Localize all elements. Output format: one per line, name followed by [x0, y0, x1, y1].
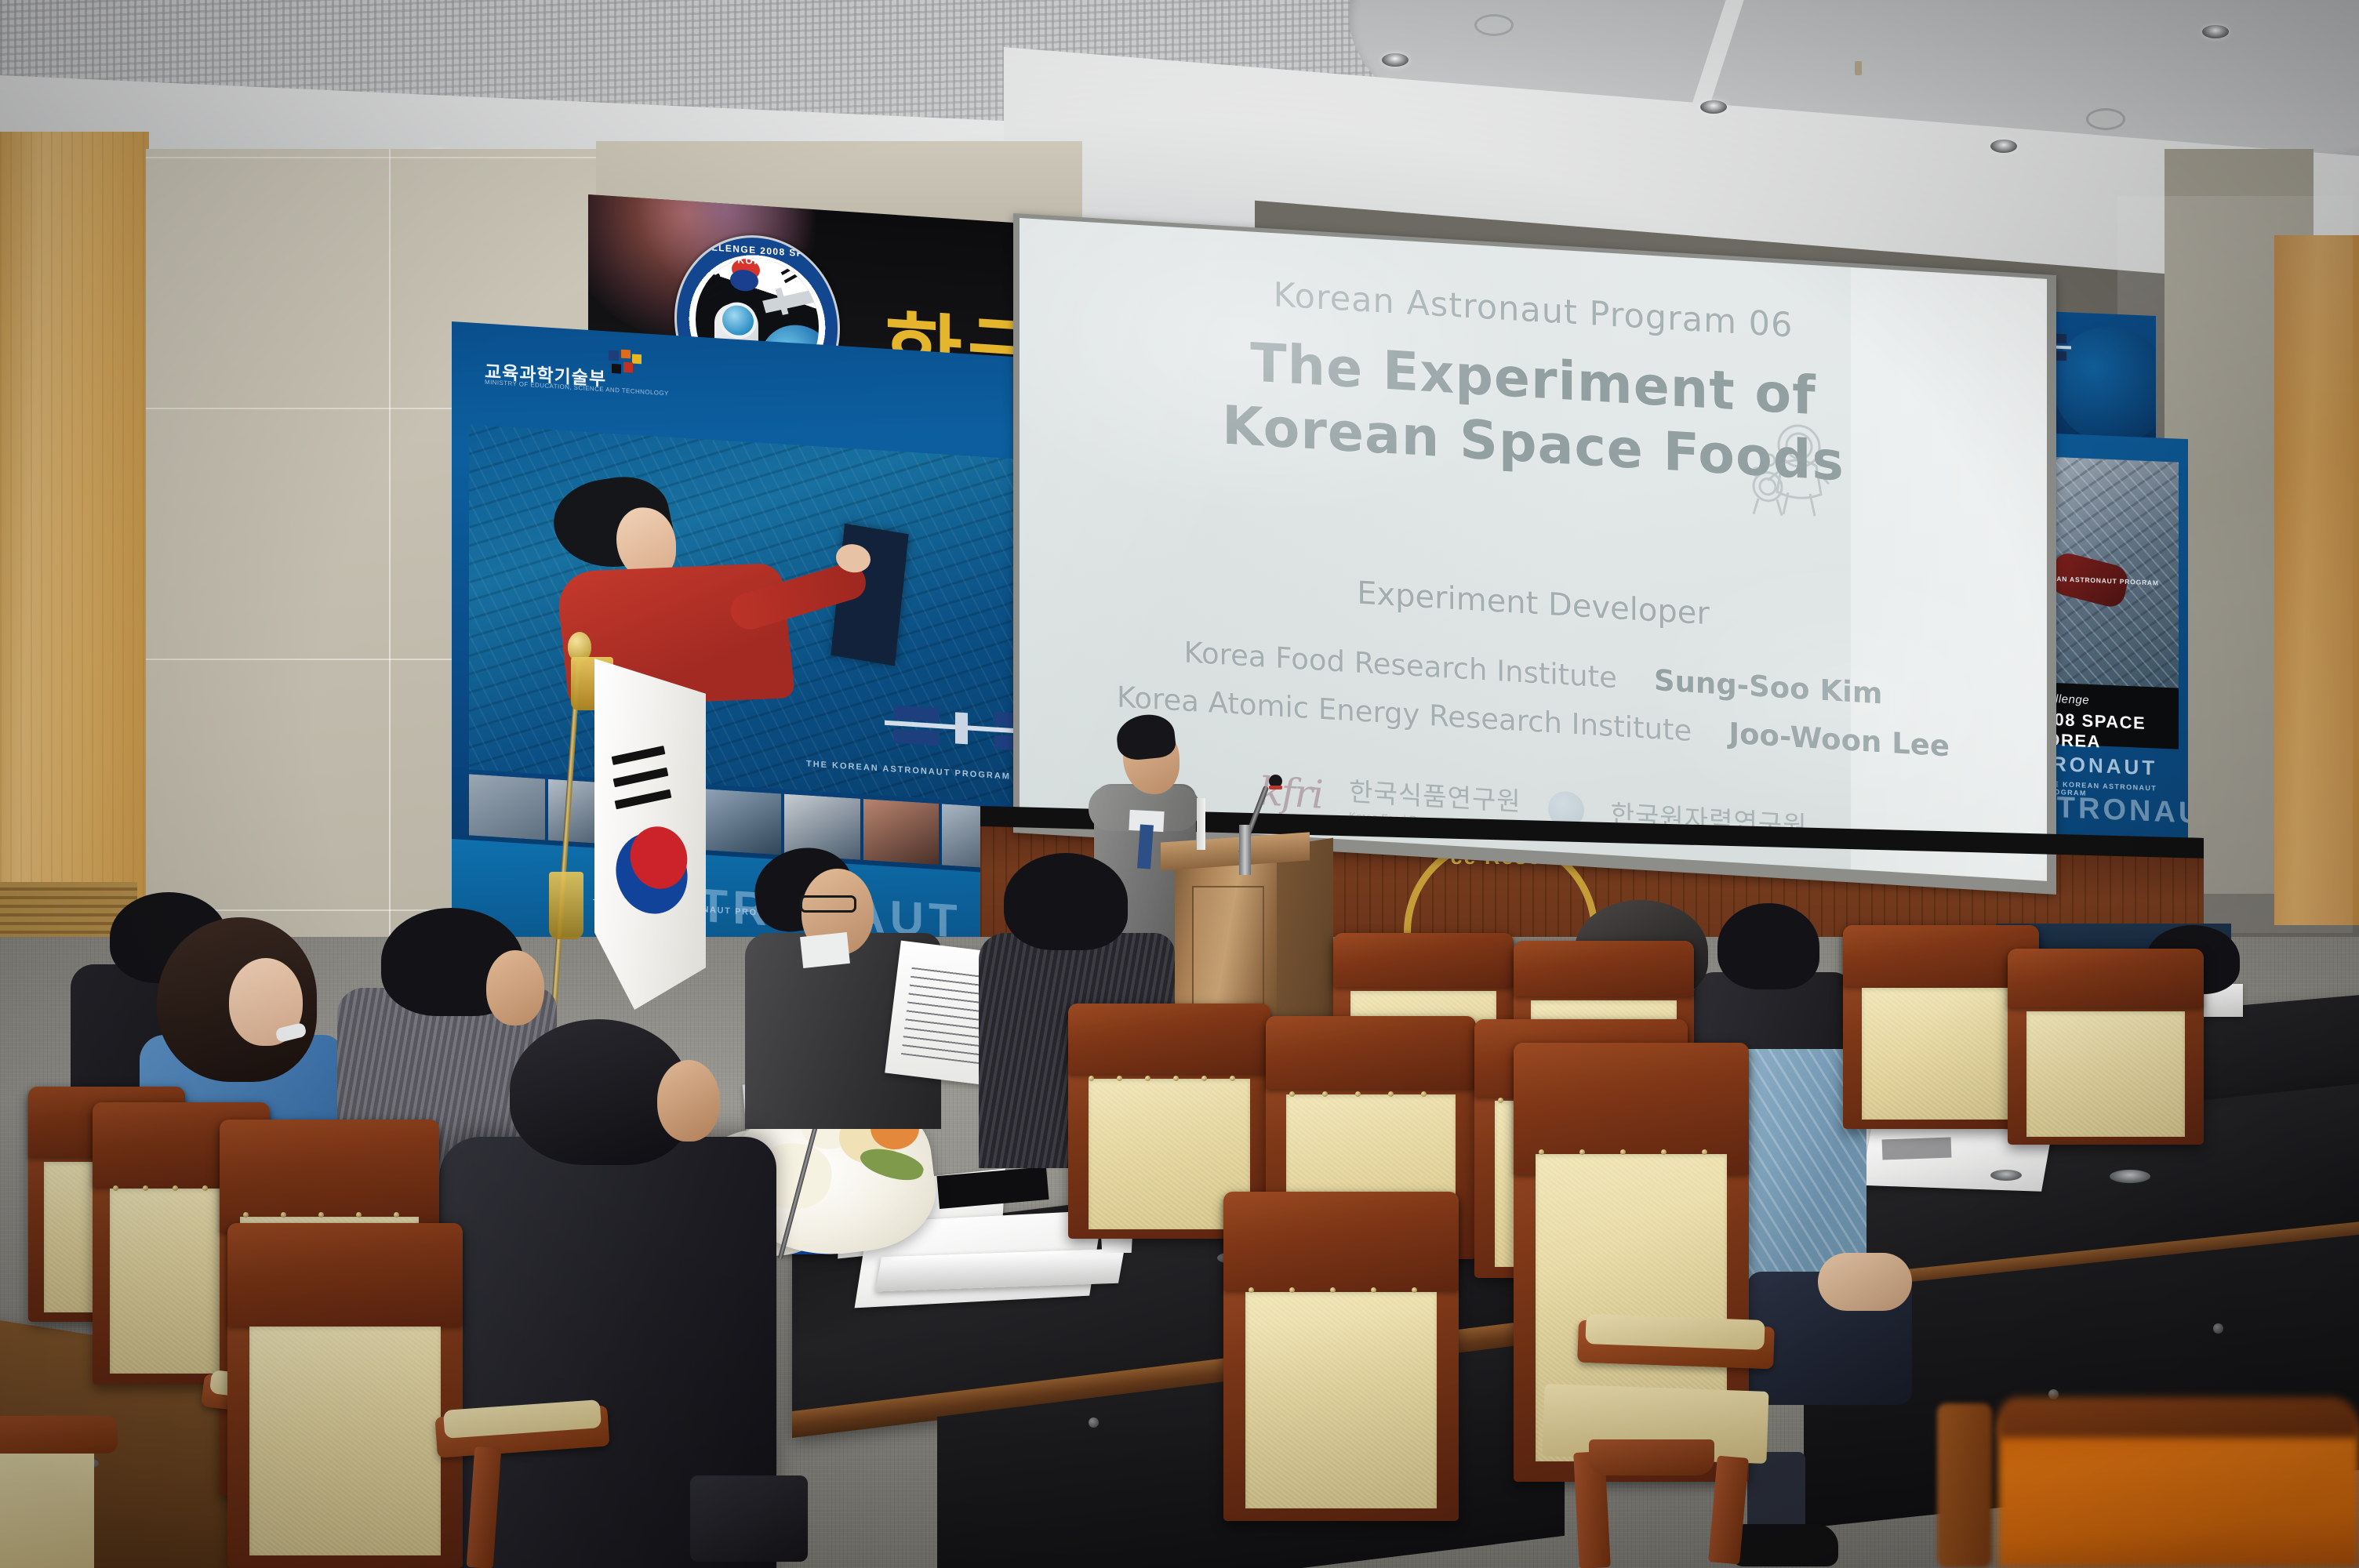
chair-tack: [1289, 1287, 1295, 1293]
audience-blue-shirt-forearm: [1818, 1253, 1912, 1311]
flag-trigram-bar: [615, 789, 672, 810]
chair-tack: [1089, 1076, 1094, 1081]
chair-tack: [1117, 1076, 1122, 1081]
downlight-icon: [1382, 53, 1408, 67]
chair-tack: [1579, 1149, 1585, 1155]
chair-tack: [1620, 1149, 1626, 1155]
chair-tack: [1388, 1091, 1394, 1097]
chair-right-arm-cushion: [1585, 1314, 1765, 1350]
chair-crest-rail: [1333, 933, 1514, 987]
chair-tack: [1330, 1287, 1336, 1293]
chair-back-cushion: [1862, 988, 2020, 1120]
chair-back-cushion: [249, 1327, 441, 1555]
conference-room-photo: CHALLENGE 2008 SPACE KOREA MEST KARI SBS…: [0, 0, 2359, 1568]
audience-man-pinstripe-hair: [1004, 853, 1128, 950]
lectern-pointer: [1197, 798, 1205, 850]
chair-tack: [1173, 1076, 1179, 1081]
chair-tack: [1230, 1076, 1235, 1081]
chair-tack: [113, 1185, 118, 1191]
table-screw: [1089, 1417, 1099, 1428]
foreground-chair-crest-blurred: [1998, 1397, 2359, 1438]
thumbnail: [469, 774, 545, 840]
chair-crest-rail: [227, 1223, 463, 1327]
chair-tack: [243, 1212, 249, 1218]
table-cable-grommet: [2110, 1170, 2150, 1183]
chair-right-apron-carving: [1589, 1439, 1714, 1475]
audience-man-grey-head: [486, 950, 544, 1025]
chair-tack: [394, 1212, 399, 1218]
booklet-photo-block: [1882, 1137, 1952, 1160]
audience-foreground-man-head: [657, 1060, 720, 1142]
chair-tack: [202, 1185, 208, 1191]
eyeglasses-icon: [800, 895, 856, 913]
chair-crest-rail: [1223, 1192, 1459, 1290]
downlight-icon: [1990, 140, 2017, 153]
audience-back-right-hair: [1717, 903, 1819, 989]
chair-tack: [1498, 1098, 1503, 1103]
chair-back-cushion: [1245, 1292, 1437, 1508]
chair-crest-rail: [2008, 949, 2204, 1007]
foreground-chair-arm-left: [0, 1416, 118, 1454]
flag-tassel-lower: [549, 872, 583, 939]
ring-light-icon: [1474, 14, 1514, 36]
chair-tack: [1702, 1149, 1707, 1155]
lectern-microphone-band: [1269, 786, 1282, 789]
chair-tack: [1145, 1076, 1150, 1081]
chair-tack: [1249, 1287, 1254, 1293]
chair-back-4[interactable]: [2008, 949, 2204, 1145]
chair-tack: [1371, 1287, 1376, 1293]
flag-trigram-bar: [612, 746, 666, 765]
chair-crest-rail: [1266, 1016, 1476, 1089]
flag-trigram-bar: [613, 768, 669, 787]
chair-tack: [1661, 1149, 1667, 1155]
chair-tack: [1539, 1149, 1544, 1155]
chair-tack: [143, 1185, 148, 1191]
table-screw: [2213, 1323, 2223, 1334]
korean-flag-taegeukgi: [594, 659, 706, 1010]
banner-kap-blue-left: 교육과학기술부 MINISTRY OF EDUCATION, SCIENCE A…: [452, 321, 1032, 1017]
audience-man-glasses-collar: [800, 932, 850, 968]
lectern-mic-base: [1239, 825, 1251, 875]
chair-tack: [356, 1212, 362, 1218]
chair-tack: [1355, 1091, 1361, 1097]
chair-tack: [1412, 1287, 1417, 1293]
chair-tack: [318, 1212, 324, 1218]
audience-foreground-man-arm: [690, 1475, 808, 1562]
chair-crest-rail: [1514, 941, 1694, 996]
chair-tack: [1322, 1091, 1328, 1097]
chair-foreground-left[interactable]: [227, 1223, 463, 1568]
chair-tack: [1201, 1076, 1207, 1081]
thumbnail: [863, 799, 940, 865]
table-cable-grommet: [1990, 1170, 2022, 1181]
chair-tack: [1289, 1091, 1295, 1097]
downlight-icon: [1700, 100, 1727, 114]
chair-tack: [281, 1212, 286, 1218]
chair-tack: [1421, 1091, 1427, 1097]
ring-light-icon: [2086, 108, 2125, 130]
foreground-chair-cushion-left: [0, 1439, 94, 1568]
downlight-icon: [2202, 25, 2229, 38]
ministry-mark-icon: [607, 348, 643, 383]
chair-crest-rail: [220, 1120, 439, 1232]
chair-tack: [173, 1185, 178, 1191]
banner-astronaut-photo: THE KOREAN ASTRONAUT PROGRAM: [469, 424, 1018, 804]
chair-center-front[interactable]: [1223, 1192, 1459, 1521]
wall-wood-grain-left: [0, 132, 149, 955]
audience-blue-shirt-shoe: [1732, 1524, 1838, 1566]
foreground-chair-post-blurred: [1937, 1403, 1992, 1568]
sprinkler-head-icon: [1855, 61, 1862, 75]
chair-crest-rail: [1068, 1004, 1270, 1074]
chair-back-cushion: [2026, 1011, 2185, 1137]
thumbnail: [706, 789, 782, 855]
